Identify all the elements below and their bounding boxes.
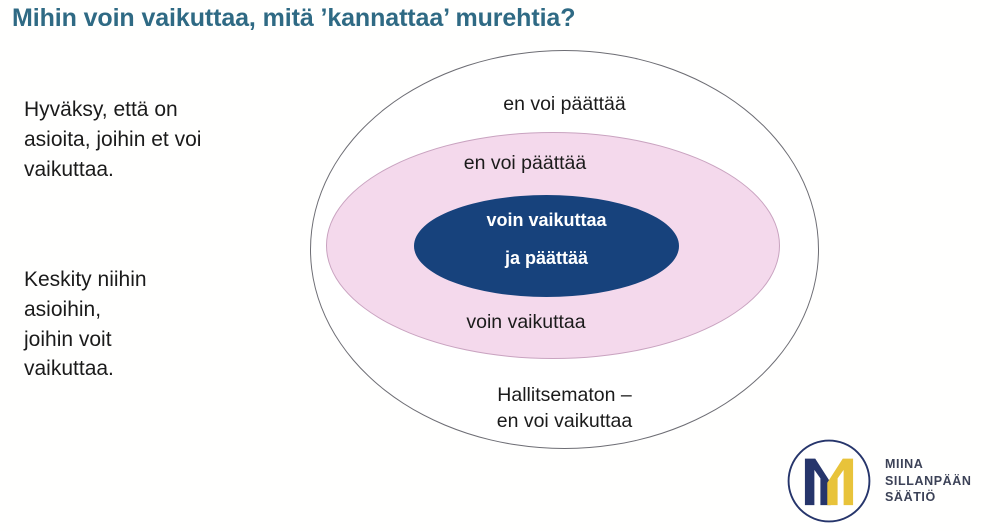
paragraph-line: joihin voit bbox=[24, 325, 284, 355]
label-outer-bottom-line-1: Hallitsematon – bbox=[310, 382, 819, 408]
label-inner-control: voin vaikuttaa ja päättää bbox=[414, 208, 679, 271]
concentric-ellipse-diagram: en voi päättää en voi päättää voin vaiku… bbox=[310, 50, 822, 452]
left-paragraph-accept: Hyväksy, että on asioita, joihin et voi … bbox=[24, 95, 284, 184]
label-middle-bottom: voin vaikuttaa bbox=[310, 309, 742, 335]
paragraph-line: vaikuttaa. bbox=[24, 354, 284, 384]
logo-line-2: SILLANPÄÄN bbox=[885, 473, 972, 490]
label-outer-top: en voi päättää bbox=[310, 91, 819, 117]
organization-logo: MIINA SILLANPÄÄN SÄÄTIÖ bbox=[786, 437, 991, 525]
paragraph-line: asioihin, bbox=[24, 295, 284, 325]
label-middle-top: en voi päättää bbox=[310, 150, 740, 176]
logo-line-1: MIINA bbox=[885, 456, 972, 473]
paragraph-line: vaikuttaa. bbox=[24, 155, 284, 185]
page-title: Mihin voin vaikuttaa, mitä ’kannattaa’ m… bbox=[12, 4, 575, 33]
miina-sillanpaan-saatio-monogram-icon bbox=[786, 438, 872, 524]
left-paragraph-focus: Keskity niihin asioihin, joihin voit vai… bbox=[24, 265, 284, 384]
label-inner-line-1: voin vaikuttaa bbox=[414, 208, 679, 232]
label-inner-line-2: ja päättää bbox=[414, 246, 679, 270]
paragraph-line: Hyväksy, että on bbox=[24, 95, 284, 125]
paragraph-line: Keskity niihin bbox=[24, 265, 284, 295]
label-outer-bottom: Hallitsematon – en voi vaikuttaa bbox=[310, 382, 819, 435]
paragraph-line: asioita, joihin et voi bbox=[24, 125, 284, 155]
logo-wordmark: MIINA SILLANPÄÄN SÄÄTIÖ bbox=[885, 456, 972, 506]
logo-line-3: SÄÄTIÖ bbox=[885, 489, 972, 506]
label-outer-bottom-line-2: en voi vaikuttaa bbox=[310, 408, 819, 434]
